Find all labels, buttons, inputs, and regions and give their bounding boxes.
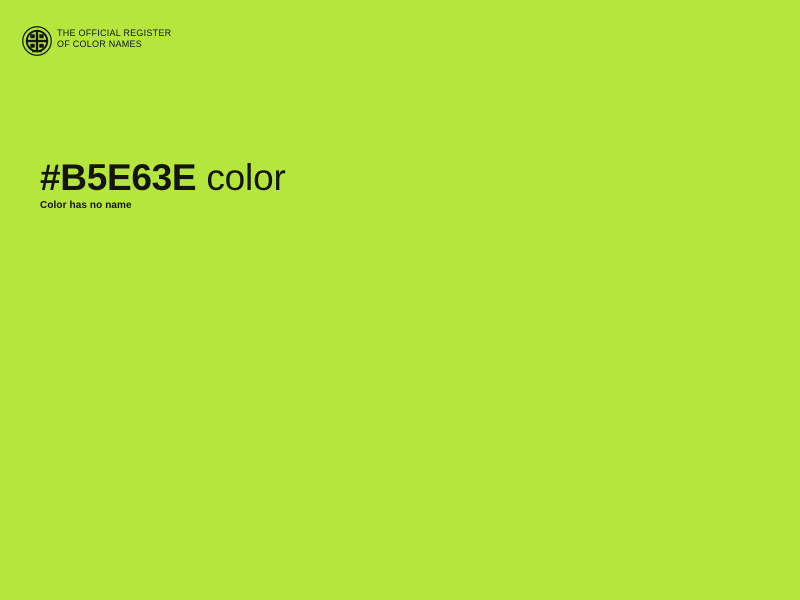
brand-wordmark: THE OFFICIAL REGISTER OF COLOR NAMES: [57, 26, 171, 49]
page-title: #B5E63E color: [40, 156, 286, 199]
brand-lockup[interactable]: THE OFFICIAL REGISTER OF COLOR NAMES: [22, 26, 171, 56]
brand-line-1: THE OFFICIAL REGISTER: [57, 28, 171, 39]
heading-suffix-label: color: [196, 157, 285, 198]
hex-code-label: #B5E63E: [40, 157, 196, 198]
color-name-status: Color has no name: [40, 199, 132, 212]
brand-line-2: OF COLOR NAMES: [57, 39, 171, 50]
color-detail-page: THE OFFICIAL REGISTER OF COLOR NAMES #B5…: [0, 0, 800, 600]
register-seal-icon: [22, 26, 52, 56]
